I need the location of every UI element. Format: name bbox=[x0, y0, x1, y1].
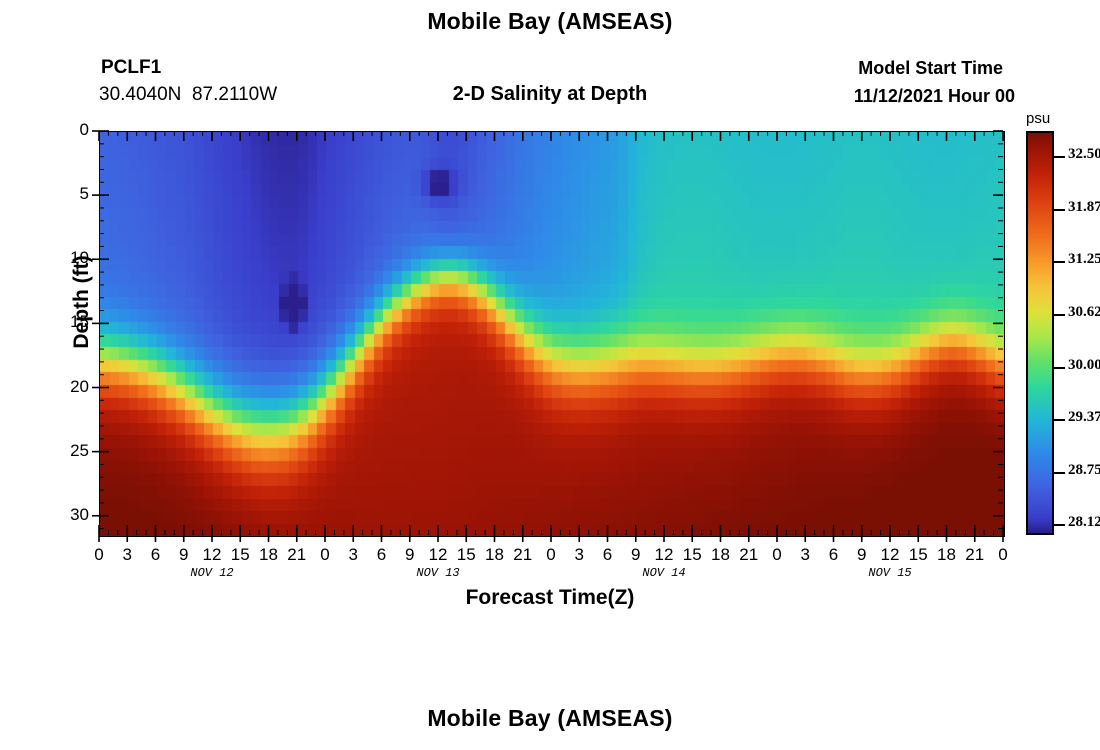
x-axis-label: Forecast Time(Z) bbox=[0, 586, 1100, 610]
x-axis-tick-label: 15 bbox=[672, 545, 712, 565]
colorbar-tick-label: 28.750 bbox=[1068, 462, 1100, 479]
x-axis-tick-label: 21 bbox=[729, 545, 769, 565]
y-axis-tick-label: 30 bbox=[29, 505, 89, 525]
x-axis-tick-label: 21 bbox=[503, 545, 543, 565]
x-axis-tick-label: 0 bbox=[983, 545, 1023, 565]
y-axis-tick-label: 5 bbox=[29, 184, 89, 204]
y-axis-tick-label: 20 bbox=[29, 377, 89, 397]
page-title-bottom: Mobile Bay (AMSEAS) bbox=[0, 705, 1100, 732]
y-axis-tick-label: 25 bbox=[29, 441, 89, 461]
y-axis-label: Depth (ft) bbox=[70, 212, 94, 392]
x-axis-tick-label: 6 bbox=[814, 545, 854, 565]
x-axis-tick-label: 15 bbox=[898, 545, 938, 565]
x-axis-tick-label: 3 bbox=[107, 545, 147, 565]
page-title-top: Mobile Bay (AMSEAS) bbox=[0, 8, 1100, 35]
x-axis-tick-label: 12 bbox=[644, 545, 684, 565]
colorbar-tick-label: 32.500 bbox=[1068, 146, 1100, 163]
x-axis-day-label: NOV 12 bbox=[157, 566, 267, 580]
x-axis-tick-label: 21 bbox=[955, 545, 995, 565]
x-axis-tick-label: 3 bbox=[559, 545, 599, 565]
y-axis-tick-label: 10 bbox=[29, 248, 89, 268]
colorbar-tick-label: 29.375 bbox=[1068, 409, 1100, 426]
x-axis-tick-label: 9 bbox=[616, 545, 656, 565]
x-axis-tick-label: 18 bbox=[927, 545, 967, 565]
salinity-field-canvas bbox=[100, 132, 1004, 536]
x-axis-tick-label: 12 bbox=[870, 545, 910, 565]
x-axis-tick-label: 15 bbox=[220, 545, 260, 565]
colorbar-tick-mark bbox=[1054, 156, 1065, 158]
x-axis-tick-label: 18 bbox=[701, 545, 741, 565]
x-axis-tick-label: 3 bbox=[333, 545, 373, 565]
x-axis-tick-label: 9 bbox=[164, 545, 204, 565]
colorbar-tick-label: 28.125 bbox=[1068, 514, 1100, 531]
x-axis-tick-label: 18 bbox=[475, 545, 515, 565]
model-start-time-value: 11/12/2021 Hour 00 bbox=[854, 86, 1015, 107]
x-axis-tick-label: 0 bbox=[79, 545, 119, 565]
x-axis-tick-label: 9 bbox=[842, 545, 882, 565]
x-axis-tick-label: 0 bbox=[531, 545, 571, 565]
x-axis-day-label: NOV 13 bbox=[383, 566, 493, 580]
y-axis-tick-label: 15 bbox=[29, 312, 89, 332]
x-axis-tick-label: 0 bbox=[757, 545, 797, 565]
colorbar-tick-mark bbox=[1054, 524, 1065, 526]
colorbar-tick-mark bbox=[1054, 472, 1065, 474]
x-axis-tick-label: 3 bbox=[785, 545, 825, 565]
colorbar-tick-mark bbox=[1054, 314, 1065, 316]
colorbar-tick-mark bbox=[1054, 261, 1065, 263]
x-axis-tick-label: 6 bbox=[136, 545, 176, 565]
x-axis-tick-label: 9 bbox=[390, 545, 430, 565]
y-axis-tick-label: 0 bbox=[29, 120, 89, 140]
colorbar-tick-mark bbox=[1054, 419, 1065, 421]
station-id-label: PCLF1 bbox=[101, 57, 161, 79]
x-axis-tick-label: 15 bbox=[446, 545, 486, 565]
x-axis-tick-label: 18 bbox=[249, 545, 289, 565]
colorbar-tick-label: 31.875 bbox=[1068, 199, 1100, 216]
colorbar-tick-label: 30.625 bbox=[1068, 304, 1100, 321]
salinity-colorbar bbox=[1026, 131, 1054, 535]
x-axis-day-label: NOV 14 bbox=[609, 566, 719, 580]
x-axis-tick-label: 21 bbox=[277, 545, 317, 565]
x-axis-tick-label: 12 bbox=[418, 545, 458, 565]
x-axis-tick-label: 6 bbox=[362, 545, 402, 565]
x-axis-tick-label: 12 bbox=[192, 545, 232, 565]
x-axis-day-label: NOV 15 bbox=[835, 566, 945, 580]
salinity-plot-page: Mobile Bay (AMSEAS) PCLF1 30.4040N 87.21… bbox=[0, 0, 1100, 750]
colorbar-tick-label: 31.250 bbox=[1068, 251, 1100, 268]
colorbar-gradient-canvas bbox=[1028, 133, 1052, 533]
salinity-heatmap-plot bbox=[99, 131, 1005, 537]
colorbar-tick-mark bbox=[1054, 209, 1065, 211]
colorbar-tick-label: 30.000 bbox=[1068, 357, 1100, 374]
model-start-time-label: Model Start Time bbox=[858, 58, 1003, 79]
x-axis-tick-label: 0 bbox=[305, 545, 345, 565]
x-axis-tick-label: 6 bbox=[588, 545, 628, 565]
colorbar-tick-mark bbox=[1054, 367, 1065, 369]
colorbar-units-label: psu bbox=[1026, 110, 1050, 127]
